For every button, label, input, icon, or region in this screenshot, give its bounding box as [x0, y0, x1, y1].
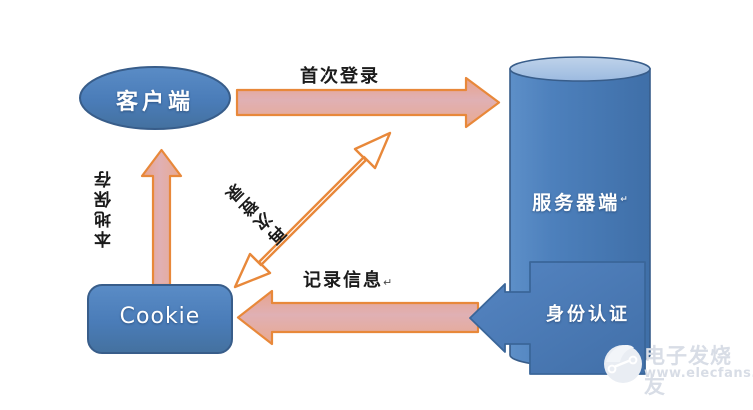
- node-label-server-mark: ↵: [620, 195, 628, 205]
- edge-label-record-info-mark: ↵: [383, 276, 394, 289]
- server-cylinder-top: [510, 57, 650, 81]
- arrow-local-save: [142, 150, 181, 285]
- edge-label-local-save: 本地保存: [92, 168, 117, 248]
- node-label-client: 客户端: [0, 84, 310, 116]
- edge-label-record-info: 记录信息↵: [303, 266, 394, 292]
- node-label-cookie: Cookie: [88, 304, 232, 329]
- node-label-server: 服务器端↵: [510, 188, 650, 215]
- diagram-canvas: 客户端 Cookie 服务器端↵ 身份认证 首次登录 记录信息↵ 本地保存 再次…: [0, 0, 753, 410]
- node-label-server-text: 服务器端: [532, 192, 620, 214]
- node-label-auth: 身份认证: [530, 300, 646, 326]
- arrow-record-info: [238, 291, 478, 344]
- edge-label-record-info-text: 记录信息: [303, 270, 383, 291]
- edge-label-first-login: 首次登录: [300, 62, 380, 88]
